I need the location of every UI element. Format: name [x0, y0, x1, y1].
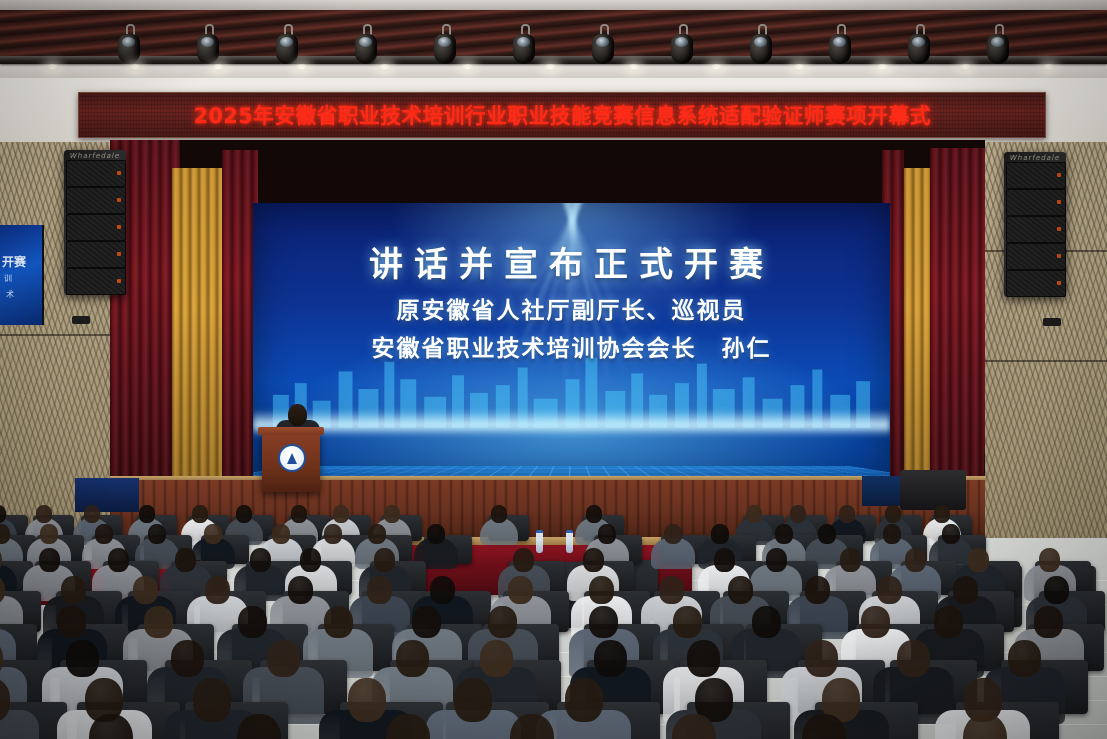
audience-head — [412, 606, 441, 638]
audience-head — [1034, 606, 1063, 638]
spotlight-fixture-icon — [197, 24, 219, 64]
recessed-downlight-icon — [710, 64, 723, 71]
spotlight-fixture-icon — [987, 24, 1009, 64]
presenter-head — [288, 404, 307, 426]
audience-head — [711, 524, 729, 544]
audience-head — [57, 606, 86, 638]
audience-head — [586, 505, 602, 523]
stage-equipment-case — [900, 470, 966, 510]
spotlight-fixture-icon — [750, 24, 772, 64]
recessed-downlight-icon — [378, 64, 391, 71]
recessed-downlight-icon — [793, 64, 806, 71]
audience-head — [148, 524, 166, 544]
spotlight-fixture-icon — [434, 24, 456, 64]
audience-head — [513, 548, 534, 572]
audience-head — [175, 548, 196, 572]
audience-head — [236, 505, 252, 523]
audience-head — [205, 576, 230, 604]
audience-head — [1044, 576, 1069, 604]
recessed-downlight-icon — [46, 64, 59, 71]
audience-head — [250, 548, 271, 572]
audience-head — [594, 640, 627, 677]
audience-head — [565, 678, 603, 722]
audience-head — [687, 640, 720, 677]
led-headline: 讲话并宣布正式开赛 — [253, 237, 890, 286]
audience-head — [589, 576, 614, 604]
audience-head — [430, 576, 455, 604]
audience-head — [746, 505, 762, 523]
event-banner: 2025年安徽省职业技术培训行业职业技能竞赛信息系统适配验证师赛项开幕式 — [78, 92, 1046, 138]
line-array-speaker-left: Wharfedale — [64, 150, 126, 295]
wall-seam-left — [0, 334, 120, 336]
audience-head — [934, 505, 950, 523]
audience-head — [95, 524, 113, 544]
audience-head — [300, 548, 321, 572]
audience-head — [193, 678, 231, 722]
audience-head — [374, 548, 395, 572]
audience-head — [144, 606, 173, 638]
wall-light-fixture-right — [1043, 318, 1061, 326]
audience-head — [84, 505, 100, 523]
audience-head — [805, 576, 830, 604]
led-horizon-glow — [253, 410, 890, 436]
audience-head — [728, 576, 753, 604]
spotlight-fixture-icon — [592, 24, 614, 64]
side-display-line-1: 开赛 — [2, 253, 26, 270]
audience-head — [598, 524, 616, 544]
audience-head — [396, 640, 429, 677]
lighting-truss — [0, 56, 1107, 64]
side-display-line-3: 术 — [6, 289, 14, 300]
audience-head — [883, 524, 901, 544]
wall-light-fixture-left — [72, 316, 90, 324]
water-bottle-2 — [566, 530, 573, 553]
audience-head — [491, 505, 507, 523]
audience-head — [427, 524, 445, 544]
audience-head — [192, 505, 208, 523]
recessed-downlight-icon — [627, 64, 640, 71]
audience-head — [659, 576, 684, 604]
ceiling-front-band — [0, 0, 1107, 10]
recessed-downlight-icon — [1042, 64, 1055, 71]
auditorium-photo: 2025年安徽省职业技术培训行业职业技能竞赛信息系统适配验证师赛项开幕式 — [0, 0, 1107, 739]
audience-head — [839, 505, 855, 523]
spotlight-fixture-icon — [355, 24, 377, 64]
audience-head — [790, 505, 806, 523]
audience-head — [488, 606, 517, 638]
recessed-downlight-icon — [959, 64, 972, 71]
speaker-podium — [262, 432, 320, 492]
audience-head — [1039, 548, 1060, 572]
spotlight-fixture-icon — [118, 24, 140, 64]
audience-head — [840, 548, 861, 572]
audience-head — [39, 548, 60, 572]
led-video-wall: 讲话并宣布正式开赛 原安徽省人社厅副厅长、巡视员 安徽省职业技术培训协会会长 孙… — [253, 203, 890, 492]
audience-head — [61, 576, 86, 604]
podium-emblem-icon — [278, 444, 306, 472]
audience-head — [968, 548, 989, 572]
recessed-downlight-icon — [129, 64, 142, 71]
audience-head — [877, 576, 902, 604]
audience-head — [288, 576, 313, 604]
audience-head — [664, 524, 682, 544]
recessed-downlight-icon — [212, 64, 225, 71]
audience-head — [291, 505, 307, 523]
audience-head — [934, 606, 963, 638]
recessed-downlight-icon — [876, 64, 889, 71]
led-subtitle-2: 安徽省职业技术培训协会会长 孙仁 — [253, 329, 890, 363]
audience-head — [348, 678, 386, 722]
audience-head — [766, 548, 787, 572]
audience-head — [40, 524, 58, 544]
audience-head — [66, 640, 99, 677]
audience-head — [267, 640, 300, 677]
banner-text: 2025年安徽省职业技术培训行业职业技能竞赛信息系统适配验证师赛项开幕式 — [193, 100, 930, 130]
audience-head — [0, 524, 10, 544]
audience-head — [752, 606, 781, 638]
spotlight-fixture-icon — [276, 24, 298, 64]
audience-head — [673, 606, 702, 638]
audience-head — [818, 524, 836, 544]
recessed-downlight-icon — [544, 64, 557, 71]
side-display: 开赛 训 术 — [0, 225, 44, 325]
audience-head — [775, 524, 793, 544]
audience-head — [508, 576, 533, 604]
spotlight-fixture-icon — [908, 24, 930, 64]
audience-head — [272, 524, 290, 544]
water-bottle-1 — [536, 530, 543, 553]
recessed-downlight-icon — [461, 64, 474, 71]
audience-head — [238, 606, 267, 638]
spotlight-fixture-icon — [829, 24, 851, 64]
audience-head — [333, 505, 349, 523]
audience-head — [139, 505, 155, 523]
audience-head — [1008, 640, 1041, 677]
audience-head — [589, 606, 618, 638]
audience-head — [480, 640, 513, 677]
audience-head — [324, 606, 353, 638]
audience-head — [368, 524, 386, 544]
audience-head — [36, 505, 52, 523]
audience-head — [805, 640, 838, 677]
recessed-downlight-icon — [295, 64, 308, 71]
stage-monitor-left — [75, 478, 139, 512]
wall-seam-right-lower — [975, 360, 1107, 362]
line-array-speaker-right: Wharfedale — [1004, 152, 1066, 297]
audience-head — [324, 524, 342, 544]
audience-head — [885, 505, 901, 523]
side-display-line-2: 训 — [4, 273, 12, 284]
podium-top — [258, 427, 324, 435]
speaker-brand-label-left: Wharfedale — [64, 152, 126, 160]
audience-head — [897, 640, 930, 677]
audience-head — [714, 548, 735, 572]
audience-head — [583, 548, 604, 572]
ceiling-wood-slats — [0, 10, 1107, 62]
led-subtitle-1: 原安徽省人社厅副厅长、巡视员 — [253, 291, 890, 325]
speaker-brand-label-right: Wharfedale — [1004, 154, 1066, 162]
audience-head — [454, 678, 492, 722]
spotlight-fixture-icon — [671, 24, 693, 64]
audience-head — [204, 524, 222, 544]
audience-head — [384, 505, 400, 523]
audience-head — [367, 576, 392, 604]
audience-head — [942, 524, 960, 544]
spotlight-fixture-icon — [513, 24, 535, 64]
audience-head — [953, 576, 978, 604]
audience-head — [108, 548, 129, 572]
audience-head — [861, 606, 890, 638]
audience-head — [133, 576, 158, 604]
audience-head — [905, 548, 926, 572]
audience-head — [171, 640, 204, 677]
